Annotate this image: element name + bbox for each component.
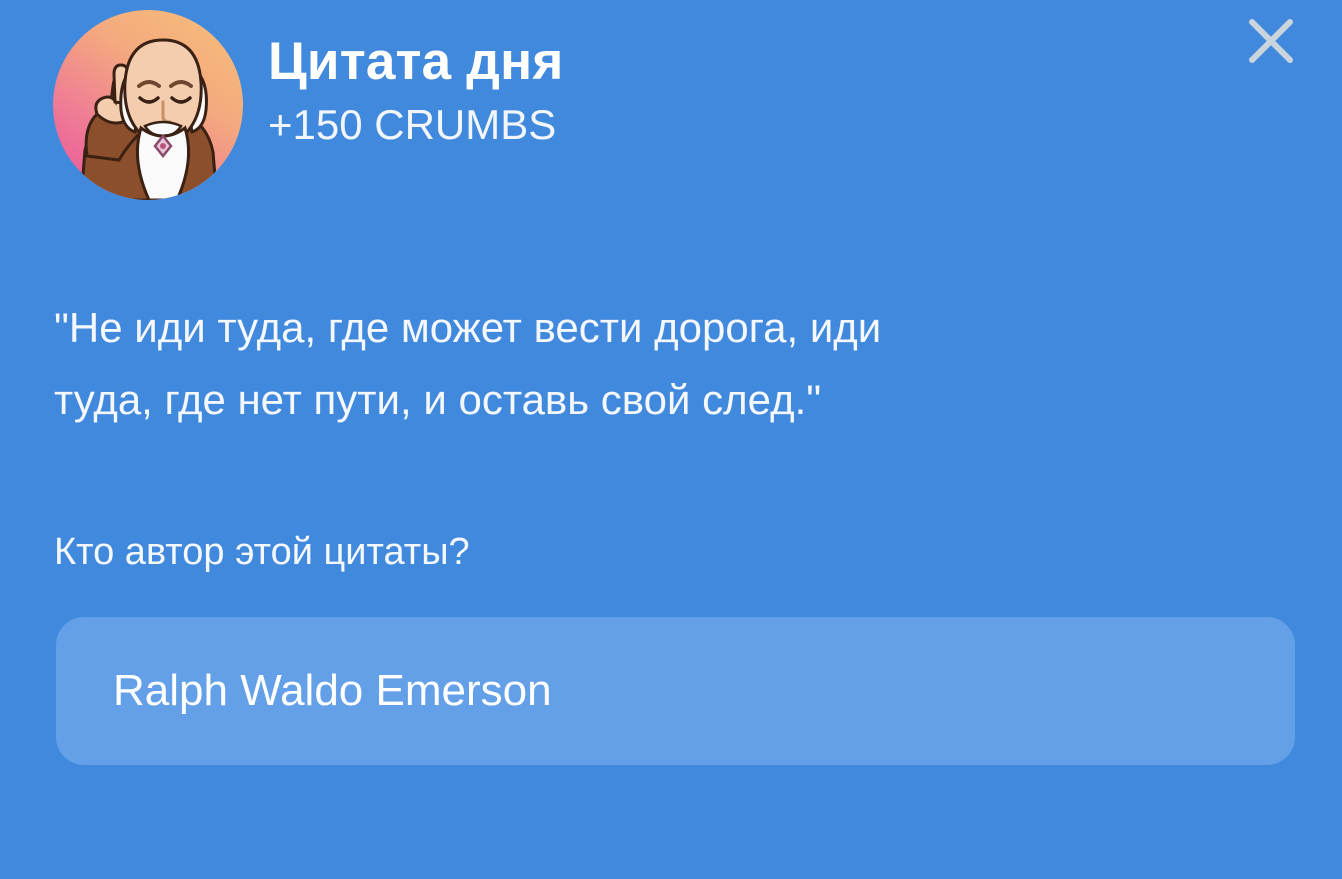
close-icon [1246, 16, 1296, 66]
sage-elder-avatar [53, 10, 243, 200]
header-text-block: Цитата дня +150 CRUMBS [268, 10, 563, 148]
quote-text: "Не иди туда, где может вести дорога, ид… [54, 292, 1254, 436]
close-button[interactable] [1242, 12, 1300, 70]
quote-line-2: туда, где нет пути, и оставь свой след." [54, 364, 1254, 436]
modal-header: Цитата дня +150 CRUMBS [53, 10, 563, 200]
reward-amount: +150 CRUMBS [268, 102, 563, 148]
quote-line-1: "Не иди туда, где может вести дорога, ид… [54, 292, 1254, 364]
answer-option-label: Ralph Waldo Emerson [113, 669, 552, 713]
page-title: Цитата дня [268, 34, 563, 90]
answer-option-0[interactable]: Ralph Waldo Emerson [56, 617, 1295, 765]
quote-of-the-day-modal: Цитата дня +150 CRUMBS "Не иди туда, где… [0, 0, 1342, 879]
question-prompt: Кто автор этой цитаты? [54, 528, 470, 576]
answer-options-list: Ralph Waldo Emerson [56, 617, 1295, 765]
